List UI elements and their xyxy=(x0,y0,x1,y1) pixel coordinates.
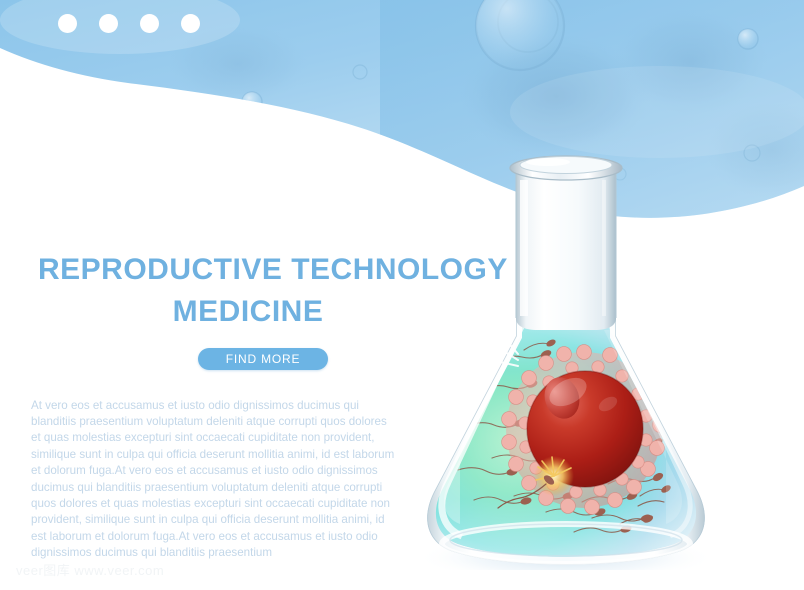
carousel-dot-2[interactable] xyxy=(99,14,118,33)
page-title-line1: REPRODUCTIVE TECHNOLOGY xyxy=(38,252,498,288)
find-more-button[interactable]: FIND MORE xyxy=(198,348,328,370)
flask-contents xyxy=(416,290,716,570)
body-paragraph: At vero eos et accusamus et iusto odio d… xyxy=(31,398,396,562)
carousel-dots[interactable] xyxy=(58,14,200,33)
carousel-dot-1[interactable] xyxy=(58,14,77,33)
banner-canvas: REPRODUCTIVE TECHNOLOGY MEDICINE FIND MO… xyxy=(0,0,804,590)
carousel-dot-3[interactable] xyxy=(140,14,159,33)
carousel-dot-4[interactable] xyxy=(181,14,200,33)
flask-rim xyxy=(510,156,622,180)
page-title-line2: MEDICINE xyxy=(38,294,458,330)
flask-neck xyxy=(516,170,616,330)
watermark-bottom: veer图库 www.veer.com xyxy=(16,560,164,579)
laboratory-flask-illustration xyxy=(396,140,736,570)
flask-graphic xyxy=(396,140,736,570)
